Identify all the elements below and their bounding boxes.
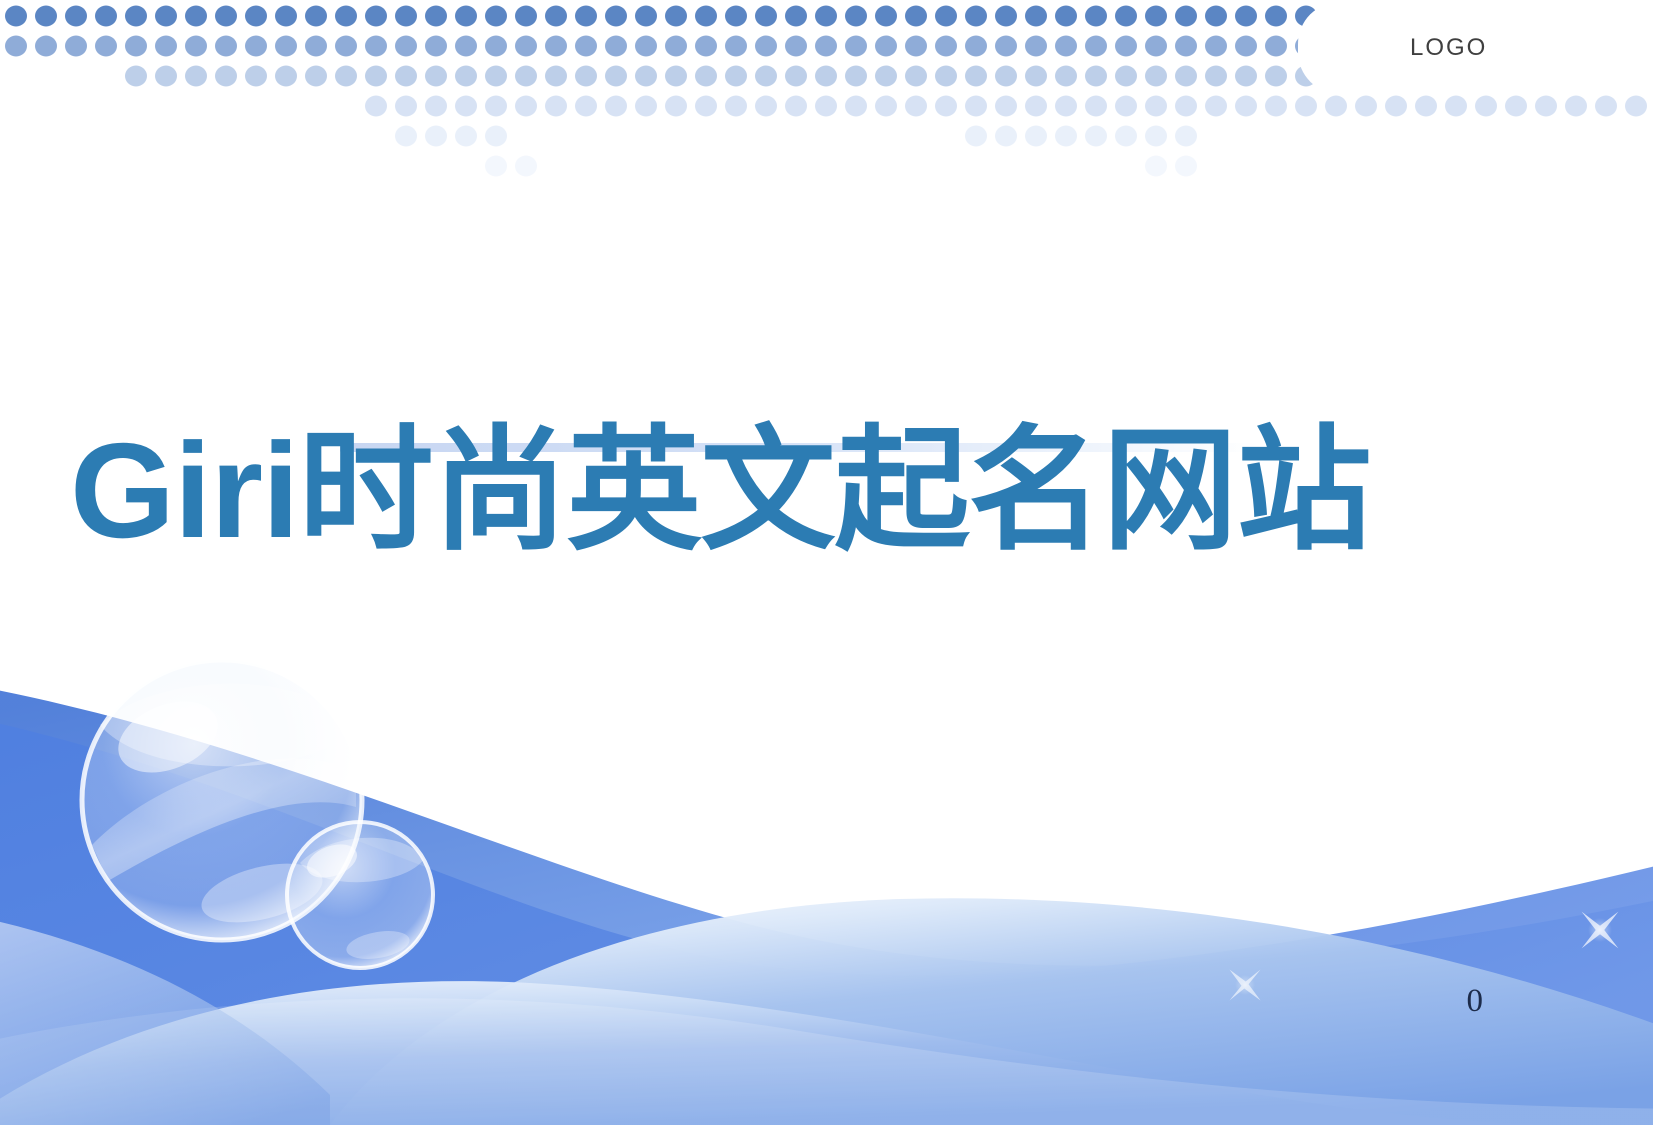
logo-placeholder[interactable]: LOGO: [1298, 2, 1653, 94]
page-title: Giri时尚英文起名网站: [0, 420, 1653, 562]
logo-label: LOGO: [1410, 34, 1487, 62]
title-slide: LOGO: [0, 0, 1653, 1125]
blue-wave-graphic: [0, 655, 1653, 1125]
page-number: 0: [1467, 983, 1484, 1020]
small-glass-bubble: [287, 822, 433, 968]
title-block: Giri时尚英文起名网站: [0, 420, 1653, 562]
